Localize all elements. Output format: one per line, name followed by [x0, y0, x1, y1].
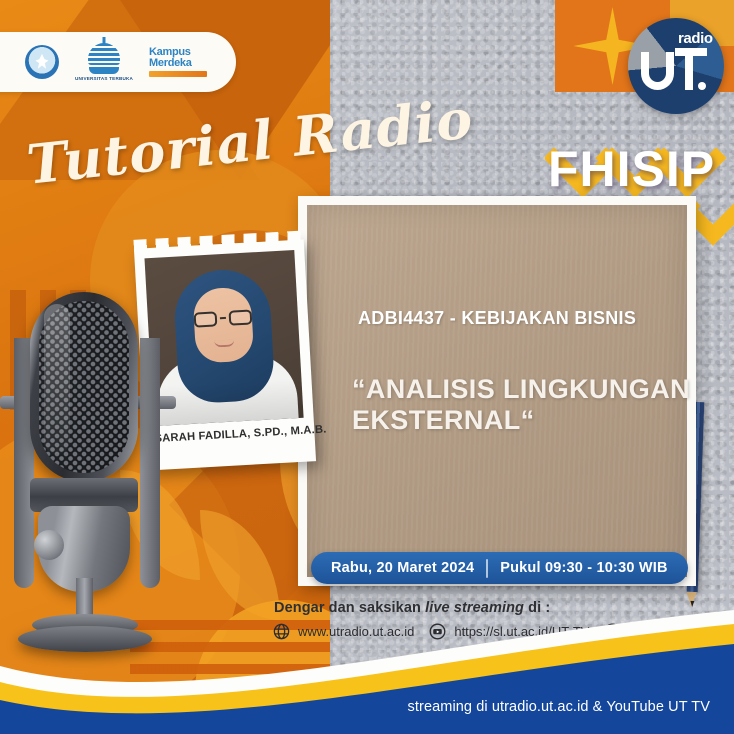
universitas-terbuka-caption: UNIVERSITAS TERBUKA — [75, 76, 133, 81]
faculty-label: FHISIP — [548, 140, 715, 198]
announcement-board: ADBI4437 - KEBIJAKAN BISNIS “ANALISIS LI… — [298, 196, 696, 586]
schedule-time: Pukul 09:30 - 10:30 WIB — [500, 560, 667, 576]
schedule-date: Rabu, 20 Maret 2024 — [331, 560, 474, 576]
kampus-merdeka-underbar — [149, 71, 207, 77]
glasses-icon — [194, 308, 253, 327]
ut-radio-superscript: radio — [678, 30, 713, 47]
tut-wuri-handayani-logo — [25, 45, 59, 79]
universitas-terbuka-logo: UNIVERSITAS TERBUKA — [75, 43, 133, 81]
badge-separator — [486, 559, 488, 578]
kampus-merdeka-logo: Kampus Merdeka — [149, 47, 207, 77]
poster-canvas: UNIVERSITAS TERBUKA Kampus Merdeka Tutor… — [0, 0, 734, 734]
institution-logo-bar: UNIVERSITAS TERBUKA Kampus Merdeka — [0, 32, 236, 92]
schedule-badge: Rabu, 20 Maret 2024 Pukul 09:30 - 10:30 … — [311, 552, 688, 584]
session-topic: “ANALISIS LINGKUNGAN EKSTERNAL“ — [352, 374, 692, 436]
footer-note: streaming di utradio.ut.ac.id & YouTube … — [408, 699, 710, 715]
ut-radio-logo: radio — [628, 18, 724, 114]
kampus-merdeka-line2: Merdeka — [149, 58, 192, 69]
microphone-icon — [8, 292, 168, 657]
speaker-name: SARAH FADILLA, S.PD., M.A.B. — [154, 425, 304, 445]
course-code-title: ADBI4437 - KEBIJAKAN BISNIS — [358, 308, 636, 329]
